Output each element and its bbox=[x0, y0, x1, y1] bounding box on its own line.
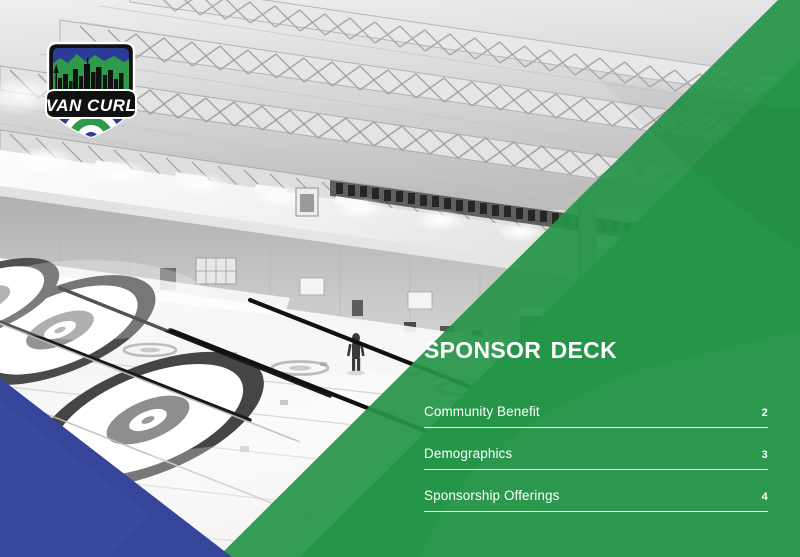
toc-page-number: 4 bbox=[762, 491, 768, 503]
toc-label: Sponsorship Offerings bbox=[424, 488, 559, 503]
page-title: Sponsor Deck bbox=[424, 330, 768, 363]
toc-label: Demographics bbox=[424, 446, 512, 461]
logo-wordmark-text: VAN CURL bbox=[46, 96, 137, 115]
table-of-contents: Community Benefit 2 Demographics 3 Spons… bbox=[424, 404, 768, 512]
logo-mountain-skyline bbox=[50, 46, 132, 92]
logo-wordmark: VAN CURL bbox=[46, 90, 137, 118]
van-curl-logo: VAN CURL bbox=[36, 36, 146, 144]
slide-content: Sponsor Deck Community Benefit 2 Demogra… bbox=[424, 330, 768, 512]
toc-page-number: 3 bbox=[762, 449, 768, 461]
toc-item-sponsorship-offerings[interactable]: Sponsorship Offerings 4 bbox=[424, 488, 768, 512]
toc-item-demographics[interactable]: Demographics 3 bbox=[424, 446, 768, 470]
title-slide: VAN CURL Sponsor Deck Community Benefit … bbox=[0, 0, 800, 557]
van-curl-logo-svg: VAN CURL bbox=[36, 36, 146, 144]
toc-page-number: 2 bbox=[762, 407, 768, 419]
toc-item-community-benefit[interactable]: Community Benefit 2 bbox=[424, 404, 768, 428]
toc-label: Community Benefit bbox=[424, 404, 540, 419]
